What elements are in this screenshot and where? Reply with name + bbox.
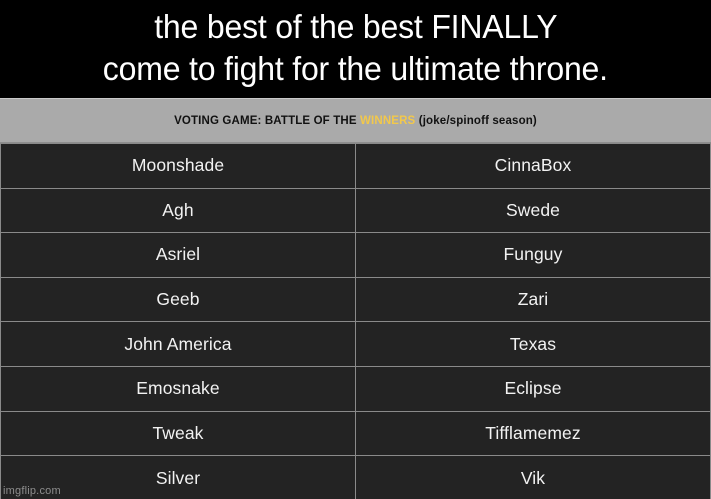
table-row: Moonshade CinnaBox xyxy=(1,144,710,189)
bracket-cell-left[interactable]: Emosnake xyxy=(1,367,356,411)
table-row: Geeb Zari xyxy=(1,278,710,323)
meme-image: the best of the best FINALLY come to fig… xyxy=(0,0,711,499)
title-suffix: (joke/spinoff season) xyxy=(419,115,537,127)
caption-line-2: come to fight for the ultimate throne. xyxy=(103,48,608,90)
bracket-cell-left[interactable]: Silver xyxy=(1,456,356,499)
table-row: Asriel Funguy xyxy=(1,233,710,278)
bracket-cell-right[interactable]: Zari xyxy=(356,278,710,322)
bracket-table: Moonshade CinnaBox Agh Swede Asriel Fung… xyxy=(0,143,711,499)
caption-band: the best of the best FINALLY come to fig… xyxy=(0,0,711,98)
table-row: Emosnake Eclipse xyxy=(1,367,710,412)
bracket-cell-left[interactable]: Moonshade xyxy=(1,144,356,188)
title-highlight-winners: WINNERS xyxy=(360,115,415,127)
table-row: Silver Vik xyxy=(1,456,710,499)
table-row: John America Texas xyxy=(1,322,710,367)
bracket-cell-left[interactable]: Tweak xyxy=(1,412,356,456)
bracket-cell-left[interactable]: Asriel xyxy=(1,233,356,277)
title-prefix: VOTING GAME: BATTLE OF THE xyxy=(174,115,357,127)
voting-game-title-bar: VOTING GAME: BATTLE OF THE WINNERS (joke… xyxy=(0,98,711,143)
bracket-cell-left[interactable]: Geeb xyxy=(1,278,356,322)
bracket-cell-right[interactable]: CinnaBox xyxy=(356,144,710,188)
bracket-cell-right[interactable]: Tifflamemez xyxy=(356,412,710,456)
bracket-cell-right[interactable]: Vik xyxy=(356,456,710,499)
table-row: Agh Swede xyxy=(1,189,710,234)
bracket-cell-right[interactable]: Swede xyxy=(356,189,710,233)
caption-line-1: the best of the best FINALLY xyxy=(154,6,557,48)
table-row: Tweak Tifflamemez xyxy=(1,412,710,457)
bracket-cell-left[interactable]: Agh xyxy=(1,189,356,233)
bracket-cell-right[interactable]: Eclipse xyxy=(356,367,710,411)
bracket-cell-left[interactable]: John America xyxy=(1,322,356,366)
voting-game-title-text: VOTING GAME: BATTLE OF THE WINNERS (joke… xyxy=(174,115,537,127)
bracket-cell-right[interactable]: Texas xyxy=(356,322,710,366)
bracket-cell-right[interactable]: Funguy xyxy=(356,233,710,277)
